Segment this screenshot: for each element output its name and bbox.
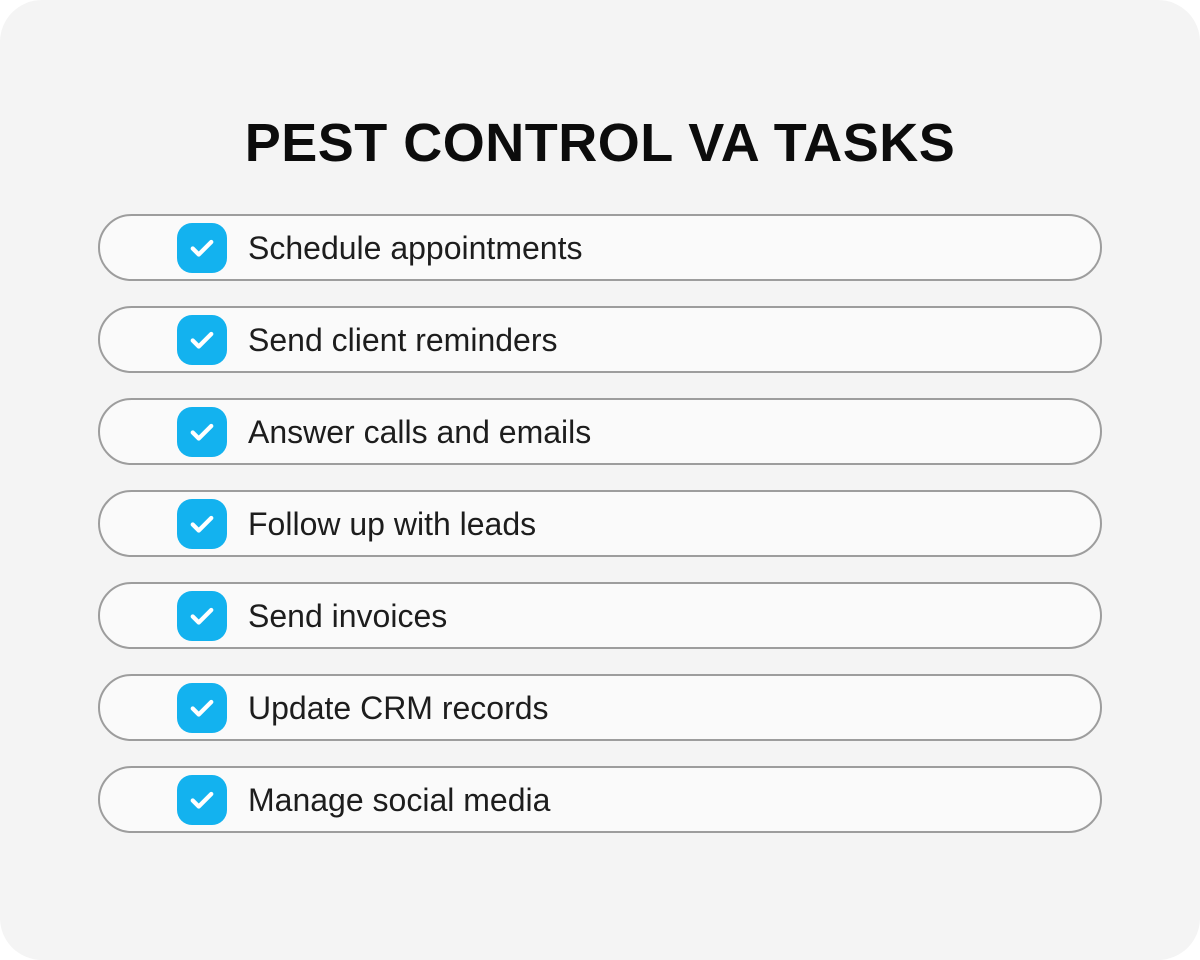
checkbox-checked-icon[interactable] — [177, 591, 227, 641]
task-checklist: Schedule appointments Send client remind… — [98, 214, 1102, 833]
checkbox-checked-icon[interactable] — [177, 775, 227, 825]
list-item-label: Answer calls and emails — [248, 413, 591, 451]
list-item[interactable]: Schedule appointments — [98, 214, 1102, 281]
checkbox-checked-icon[interactable] — [177, 683, 227, 733]
list-item[interactable]: Send invoices — [98, 582, 1102, 649]
checkbox-checked-icon[interactable] — [177, 407, 227, 457]
checkbox-checked-icon[interactable] — [177, 223, 227, 273]
page-title: PEST CONTROL VA TASKS — [0, 112, 1200, 174]
checkbox-checked-icon[interactable] — [177, 315, 227, 365]
list-item-label: Manage social media — [248, 781, 550, 819]
list-item[interactable]: Update CRM records — [98, 674, 1102, 741]
list-item[interactable]: Follow up with leads — [98, 490, 1102, 557]
list-item[interactable]: Manage social media — [98, 766, 1102, 833]
list-item[interactable]: Answer calls and emails — [98, 398, 1102, 465]
list-item-label: Schedule appointments — [248, 229, 582, 267]
task-card: PEST CONTROL VA TASKS Schedule appointme… — [0, 0, 1200, 960]
list-item-label: Follow up with leads — [248, 505, 536, 543]
list-item-label: Update CRM records — [248, 689, 549, 727]
list-item-label: Send client reminders — [248, 321, 557, 359]
list-item[interactable]: Send client reminders — [98, 306, 1102, 373]
list-item-label: Send invoices — [248, 597, 447, 635]
checkbox-checked-icon[interactable] — [177, 499, 227, 549]
